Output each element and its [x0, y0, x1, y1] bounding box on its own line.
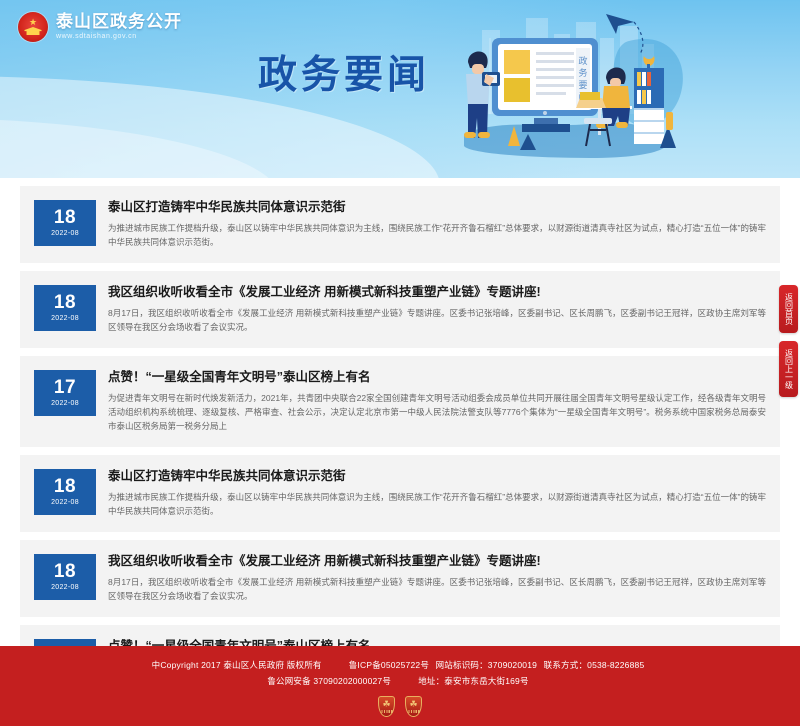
news-date-day: 18	[54, 208, 76, 228]
site-logo[interactable]: ★ 泰山区政务公开 www.sdtaishan.gov.cn	[18, 12, 182, 42]
footer-site-code: 网站标识码：3709020019	[436, 660, 537, 670]
national-emblem-icon: ★	[18, 12, 48, 42]
footer-contact: 联系方式：0538-8226885	[544, 660, 645, 670]
news-date-month: 2022-08	[51, 314, 79, 323]
footer-line-1: 中Copyright 2017 泰山区人民政府 版权所有 鲁ICP备050257…	[152, 657, 649, 673]
news-date-day: 18	[54, 562, 76, 582]
footer-address: 地址：泰安市东岳大街169号	[418, 676, 528, 686]
news-item[interactable]: 18 2022-08 泰山区打造铸牢中华民族共同体意识示范街 为推进城市民族工作…	[20, 455, 780, 532]
site-footer: 中Copyright 2017 泰山区人民政府 版权所有 鲁ICP备050257…	[0, 646, 800, 726]
footer-icp[interactable]: 鲁ICP备05025722号	[349, 660, 429, 670]
svg-text:要: 要	[578, 80, 587, 91]
news-summary: 为推进城市民族工作提档升级，泰山区以铸牢中华民族共同体意识为主线，围绕民族工作“…	[108, 221, 766, 249]
news-body: 我区组织收听收看全市《发展工业经济 用新模式新科技重塑产业链》专题讲座! 8月1…	[108, 552, 766, 603]
footer-line-2: 鲁公网安备 37090202000027号 地址：泰安市东岳大街169号	[267, 673, 532, 689]
news-date-badge: 17 2022-08	[34, 370, 96, 416]
news-date-badge: 18 2022-08	[34, 200, 96, 246]
emblem-star-icon: ★	[29, 18, 37, 27]
news-date-month: 2022-08	[51, 229, 79, 238]
news-item[interactable]: 18 2022-08 我区组织收听收看全市《发展工业经济 用新模式新科技重塑产业…	[20, 271, 780, 348]
news-title[interactable]: 我区组织收听收看全市《发展工业经济 用新模式新科技重塑产业链》专题讲座!	[108, 284, 766, 301]
news-date-month: 2022-08	[51, 498, 79, 507]
news-body: 泰山区打造铸牢中华民族共同体意识示范街 为推进城市民族工作提档升级，泰山区以铸牢…	[108, 467, 766, 518]
footer-copyright: 中Copyright 2017 泰山区人民政府 版权所有	[152, 660, 322, 670]
news-summary: 8月17日，我区组织收听收看全市《发展工业经济 用新模式新科技重塑产业链》专题讲…	[108, 575, 766, 603]
back-to-parent-button[interactable]: 返回上一级	[779, 341, 798, 397]
logo-text-block: 泰山区政务公开 www.sdtaishan.gov.cn	[56, 12, 182, 42]
news-date-month: 2022-08	[51, 583, 79, 592]
footer-police-record[interactable]: 鲁公网安备 37090202000027号	[267, 676, 391, 686]
emblem-gate-icon	[25, 27, 42, 35]
svg-text:务: 务	[578, 67, 587, 79]
news-title[interactable]: 点赞！“一星级全国青年文明号”泰山区榜上有名	[108, 369, 766, 386]
site-banner: ★ 泰山区政务公开 www.sdtaishan.gov.cn 政务要闻	[0, 0, 800, 178]
news-date-badge: 18 2022-08	[34, 285, 96, 331]
logo-title: 泰山区政务公开	[56, 12, 182, 31]
news-date-day: 17	[54, 378, 76, 398]
news-date-badge: 18 2022-08	[34, 554, 96, 600]
floating-side-buttons: 返回首页 返回上一级	[779, 285, 798, 397]
logo-url: www.sdtaishan.gov.cn	[56, 32, 182, 42]
news-title[interactable]: 泰山区打造铸牢中华民族共同体意识示范街	[108, 199, 766, 216]
news-item[interactable]: 17 2022-08 点赞！“一星级全国青年文明号”泰山区榜上有名 为促进青年文…	[20, 356, 780, 447]
banner-illustration: 政 务 要 闻	[430, 8, 690, 178]
svg-text:政: 政	[578, 55, 587, 67]
police-badge-icon[interactable]	[378, 696, 395, 717]
news-summary: 为推进城市民族工作提档升级，泰山区以铸牢中华民族共同体意识为主线，围绕民族工作“…	[108, 490, 766, 518]
news-list: 18 2022-08 泰山区打造铸牢中华民族共同体意识示范街 为推进城市民族工作…	[0, 178, 800, 726]
news-date-day: 18	[54, 477, 76, 497]
news-title[interactable]: 泰山区打造铸牢中华民族共同体意识示范街	[108, 468, 766, 485]
page-title: 政务要闻	[258, 44, 430, 100]
police-badge-icon[interactable]	[405, 696, 422, 717]
news-item[interactable]: 18 2022-08 泰山区打造铸牢中华民族共同体意识示范街 为推进城市民族工作…	[20, 186, 780, 263]
news-body: 泰山区打造铸牢中华民族共同体意识示范街 为推进城市民族工作提档升级，泰山区以铸牢…	[108, 198, 766, 249]
news-summary: 8月17日，我区组织收听收看全市《发展工业经济 用新模式新科技重塑产业链》专题讲…	[108, 306, 766, 334]
news-date-month: 2022-08	[51, 399, 79, 408]
news-title[interactable]: 我区组织收听收看全市《发展工业经济 用新模式新科技重塑产业链》专题讲座!	[108, 553, 766, 570]
page-root: ★ 泰山区政务公开 www.sdtaishan.gov.cn 政务要闻	[0, 0, 800, 726]
news-item[interactable]: 18 2022-08 我区组织收听收看全市《发展工业经济 用新模式新科技重塑产业…	[20, 540, 780, 617]
news-date-day: 18	[54, 293, 76, 313]
footer-badge-icons	[378, 696, 422, 717]
news-body: 点赞！“一星级全国青年文明号”泰山区榜上有名 为促进青年文明号在新时代焕发新活力…	[108, 368, 766, 433]
news-body: 我区组织收听收看全市《发展工业经济 用新模式新科技重塑产业链》专题讲座! 8月1…	[108, 283, 766, 334]
news-summary: 为促进青年文明号在新时代焕发新活力，2021年，共青团中央联合22家全国创建青年…	[108, 391, 766, 433]
news-date-badge: 18 2022-08	[34, 469, 96, 515]
back-to-home-button[interactable]: 返回首页	[779, 285, 798, 333]
